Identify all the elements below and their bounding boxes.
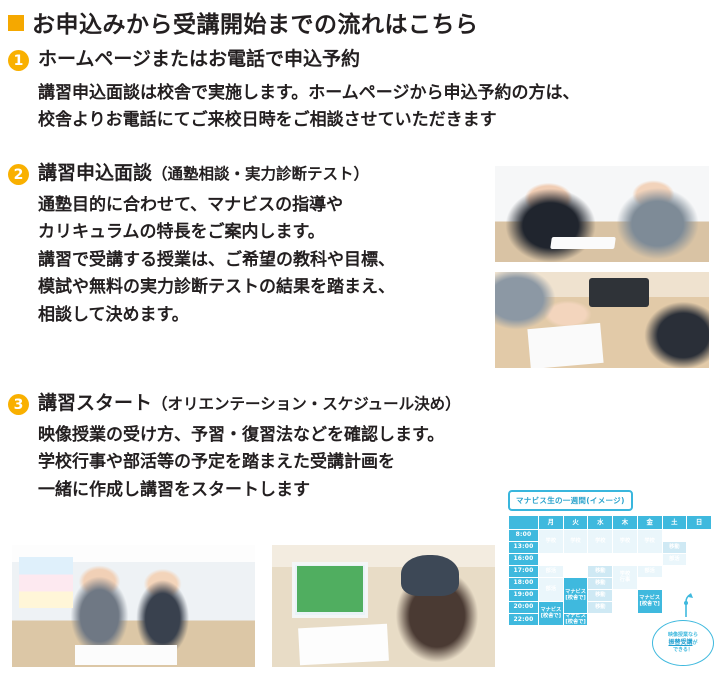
step-3-title-main: 講習スタート [38,392,152,414]
schedule-cell-thu-1900 [613,590,638,602]
schedule-day-sun: 日 [687,516,712,530]
schedule-cell-mon-800: 学校 [539,530,564,554]
step-3-title-sub: （オリエンテーション・スケジュール決め） [152,395,461,413]
schedule-cell-sat-800: マナビス[自宅で] [662,530,687,542]
schedule-cell-fri-2200 [637,614,662,626]
step-3-heading: 3 講習スタート（オリエンテーション・スケジュール決め） [8,390,461,418]
square-bullet-icon [8,15,24,31]
schedule-time-1700: 17:00 [509,566,539,578]
video-lesson-photo [272,545,495,667]
step-3-body-line-1: 映像授業の受け方、予習・復習法などを確認します。 [38,422,461,450]
schedule-time-1900: 19:00 [509,590,539,602]
schedule-day-tue: 火 [563,516,588,530]
schedule-cell-sat-1700: マナビス[自宅で] [662,566,687,590]
callout-text: 映像授業なら振替受講ができる！ [668,632,698,654]
step-2-body: 通塾目的に合わせて、マナビスの指導や カリキュラムの特長をご案内します。 講習で… [38,192,395,330]
step-1-body: 講習申込面談は校舎で実施します。ホームページから申込予約の方は、 校舎よりお電話… [38,80,579,135]
schedule-row-1700: 17:00部活移動学校行事部活マナビス[自宅で] [509,566,712,578]
schedule-cell-wed-1700: 移動 [588,566,613,578]
step-2-title: 講習申込面談（通塾相談・実力診断テスト） [38,160,369,188]
step-1-title: ホームページまたはお電話で申込予約 [38,46,360,74]
schedule-cell-fri-1900: マナビス[校舎で] [637,590,662,614]
schedule-time-1800: 18:00 [509,578,539,590]
schedule-cell-wed-2200 [588,614,613,626]
step-2-title-main: 講習申込面談 [38,162,152,184]
step-2-body-line-2: カリキュラムの特長をご案内します。 [38,219,395,247]
schedule-cell-tue-1700 [563,566,588,578]
schedule-cell-thu-1700: 学校行事 [613,566,638,590]
schedule-day-wed: 水 [588,516,613,530]
schedule-header-row: 月 火 水 木 金 土 日 [509,516,712,530]
schedule-cell-sun-1300: マナビス[自宅で] [687,542,712,566]
step-2-title-sub: （通塾相談・実力診断テスト） [152,165,369,183]
schedule-cell-sat-1600: 部活 [662,554,687,566]
counseling-photo [12,545,255,667]
schedule-day-thu: 木 [613,516,638,530]
step-1: 1 ホームページまたはお電話で申込予約 講習申込面談は校舎で実施します。ホームペ… [8,46,579,135]
page-title: お申込みから受講開始までの流れはこちら [8,4,708,40]
schedule-cell-sat-1300: 移動 [662,542,687,554]
step-2-body-line-4: 模試や無料の実力診断テストの結果を踏まえ、 [38,274,395,302]
step-number-badge-2: 2 [8,164,29,185]
interview-photo-1 [495,166,709,262]
interview-photo-2 [495,272,709,368]
schedule-cell-sun-800 [687,530,712,542]
schedule-cell-tue-2000: 移動 [588,602,613,614]
schedule-cell-thu-2000 [613,602,638,626]
curved-arrow-icon [678,592,694,618]
page-title-text: お申込みから受講開始までの流れはこちら [32,5,479,39]
step-3-title: 講習スタート（オリエンテーション・スケジュール決め） [38,390,461,418]
schedule-time-2000: 20:00 [509,602,539,614]
schedule-day-mon: 月 [539,516,564,530]
schedule-cell-tue-1800: 部活 [539,578,564,602]
step-3-body: 映像授業の受け方、予習・復習法などを確認します。 学校行事や部活等の予定を踏まえ… [38,422,461,505]
schedule-cell-thu-1600 [613,554,638,566]
step-1-body-line-1: 講習申込面談は校舎で実施します。ホームページから申込予約の方は、 [38,80,579,108]
schedule-day-sat: 土 [662,516,687,530]
weekly-schedule-graphic: マナビス生の一週間(イメージ) 月 火 水 木 金 土 日 8:00学校学校学校… [508,488,712,670]
schedule-cell-mon-1700: 部活 [539,566,564,578]
schedule-cell-wed-1800: マナビス[校舎で] [563,578,588,614]
step-2-body-line-1: 通塾目的に合わせて、マナビスの指導や [38,192,395,220]
schedule-cell-tue-800: 学校 [563,530,588,554]
step-number-badge-1: 1 [8,50,29,71]
step-2-body-line-5: 相談して決めます。 [38,302,395,330]
schedule-cell-thu-800: 学校 [613,530,638,554]
schedule-cell-fri-1800: 移動 [588,578,613,590]
schedule-cell-mon-1600 [539,554,564,566]
schedule-cell-fri-1700: 部活 [637,566,662,578]
schedule-cell-fri-800: 学校 [637,530,662,554]
schedule-title: マナビス生の一週間(イメージ) [508,490,633,511]
step-number-badge-3: 3 [8,394,29,415]
schedule-row-1600: 16:00部活 [509,554,712,566]
makeup-lesson-callout: 映像授業なら振替受講ができる！ [652,620,714,666]
schedule-day-fri: 金 [637,516,662,530]
schedule-cell-wed-1600 [588,554,613,566]
schedule-cell-tue-2200: マナビス[校舎で] [563,614,588,626]
step-3-body-line-3: 一緒に作成し講習をスタートします [38,477,461,505]
step-3: 3 講習スタート（オリエンテーション・スケジュール決め） 映像授業の受け方、予習… [8,390,461,504]
step-1-heading: 1 ホームページまたはお電話で申込予約 [8,46,579,74]
schedule-time-800: 8:00 [509,530,539,542]
schedule-time-2200: 22:00 [509,614,539,626]
schedule-cell-mon-1900: 移動 [588,590,613,602]
step-2-heading: 2 講習申込面談（通塾相談・実力診断テスト） [8,160,395,188]
step-3-body-line-2: 学校行事や部活等の予定を踏まえた受講計画を [38,449,461,477]
schedule-time-1600: 16:00 [509,554,539,566]
step-2-body-line-3: 講習で受講する授業は、ご希望の教科や目標、 [38,247,395,275]
schedule-cell-fri-1600 [637,554,662,566]
schedule-corner-cell [509,516,539,530]
schedule-cell-tue-1600 [563,554,588,566]
step-2: 2 講習申込面談（通塾相談・実力診断テスト） 通塾目的に合わせて、マナビスの指導… [8,160,395,329]
schedule-time-1300: 13:00 [509,542,539,554]
schedule-cell-mon-2000: マナビス[校舎で] [539,602,564,626]
step-1-body-line-2: 校舎よりお電話にてご来校日時をご相談させていただきます [38,107,579,135]
schedule-cell-wed-800: 学校 [588,530,613,554]
schedule-row-800: 8:00学校学校学校学校学校マナビス[自宅で] [509,530,712,542]
flow-page: お申込みから受講開始までの流れはこちら 1 ホームページまたはお電話で申込予約 … [0,0,720,675]
